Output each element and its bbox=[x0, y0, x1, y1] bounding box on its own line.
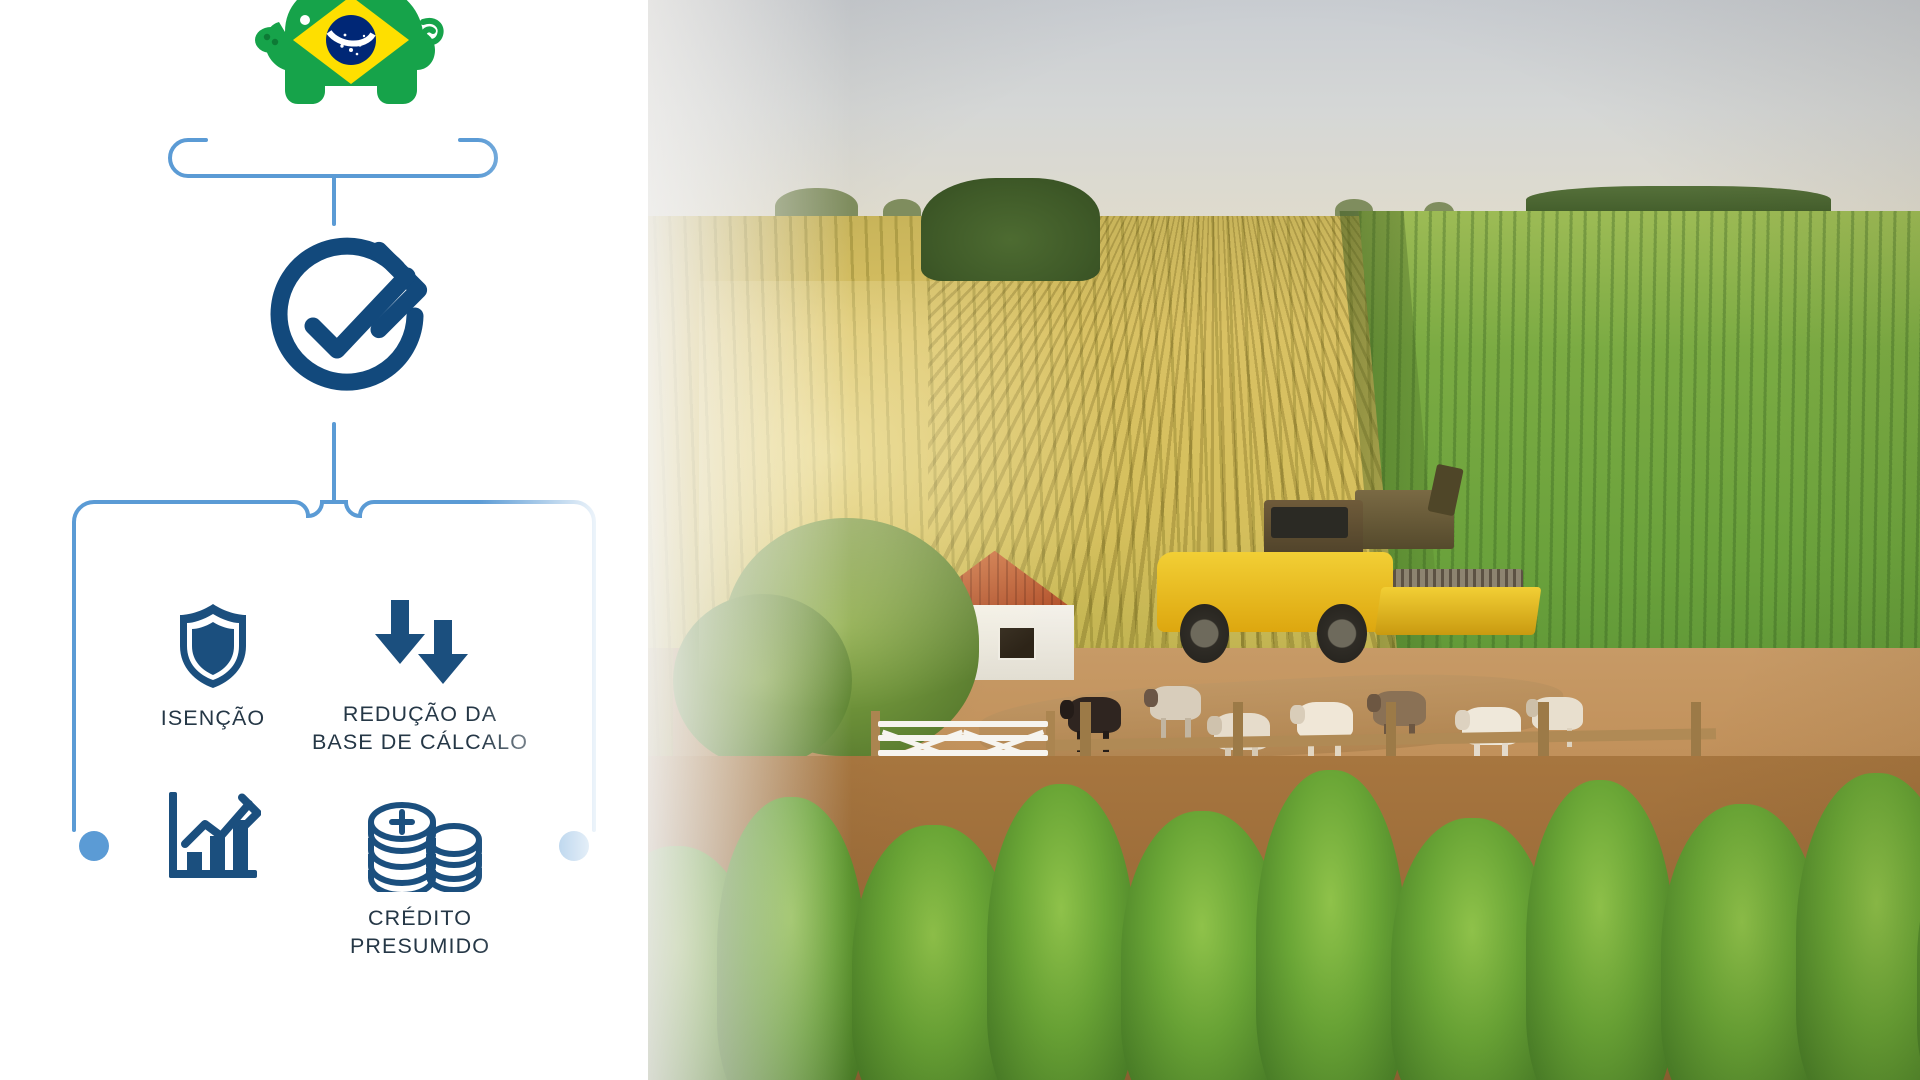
piggy-bank-brazil-flag-icon bbox=[239, 0, 454, 143]
shield-icon bbox=[174, 600, 252, 692]
benefit-isencao: ISENÇÃO bbox=[118, 600, 308, 733]
benefit-label: CRÉDITO PRESUMIDO bbox=[350, 905, 490, 960]
infographic-panel: ISENÇÃO REDUÇÃO DA BASE DE CÁLCALO bbox=[0, 0, 648, 1080]
photo-vignette bbox=[648, 0, 1920, 1080]
aerial-farm-photograph bbox=[648, 0, 1920, 1080]
connector-node-right bbox=[559, 831, 589, 861]
benefit-bar-chart bbox=[118, 790, 308, 895]
coin-stack-plus-icon bbox=[358, 800, 482, 892]
connector-node-left bbox=[79, 831, 109, 861]
benefit-reducao-base-calculo: REDUÇÃO DA BASE DE CÁLCALO bbox=[300, 596, 540, 756]
bar-chart-growth-icon bbox=[165, 790, 261, 882]
benefit-credito-presumido: CRÉDITO PRESUMIDO bbox=[300, 800, 540, 960]
benefit-label: ISENÇÃO bbox=[161, 705, 265, 733]
growth-arrow-check-icon bbox=[247, 222, 447, 422]
double-down-arrow-icon bbox=[364, 596, 476, 688]
benefit-label: REDUÇÃO DA BASE DE CÁLCALO bbox=[312, 701, 528, 756]
poster-root: ISENÇÃO REDUÇÃO DA BASE DE CÁLCALO bbox=[0, 0, 1920, 1080]
